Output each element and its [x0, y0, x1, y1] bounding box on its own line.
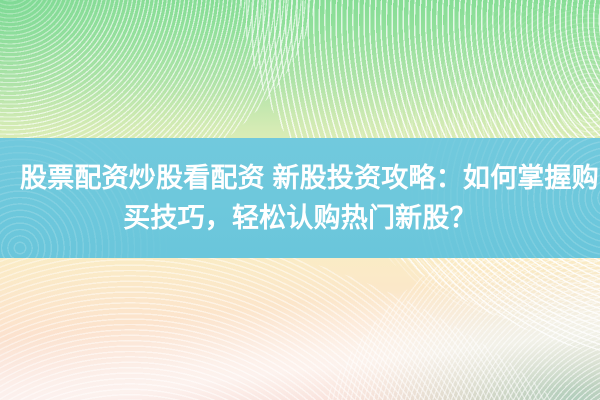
banner-headline-line-2: 买技巧，轻松认购热门新股？: [20, 198, 580, 238]
banner-image: 股票配资炒股看配资 新股投资攻略：如何掌握购 买技巧，轻松认购热门新股？: [0, 0, 600, 400]
banner-headline-line-1: 股票配资炒股看配资 新股投资攻略：如何掌握购: [20, 158, 580, 198]
banner-headline: 股票配资炒股看配资 新股投资攻略：如何掌握购 买技巧，轻松认购热门新股？: [20, 158, 580, 238]
title-band: 股票配资炒股看配资 新股投资攻略：如何掌握购 买技巧，轻松认购热门新股？: [0, 138, 600, 258]
